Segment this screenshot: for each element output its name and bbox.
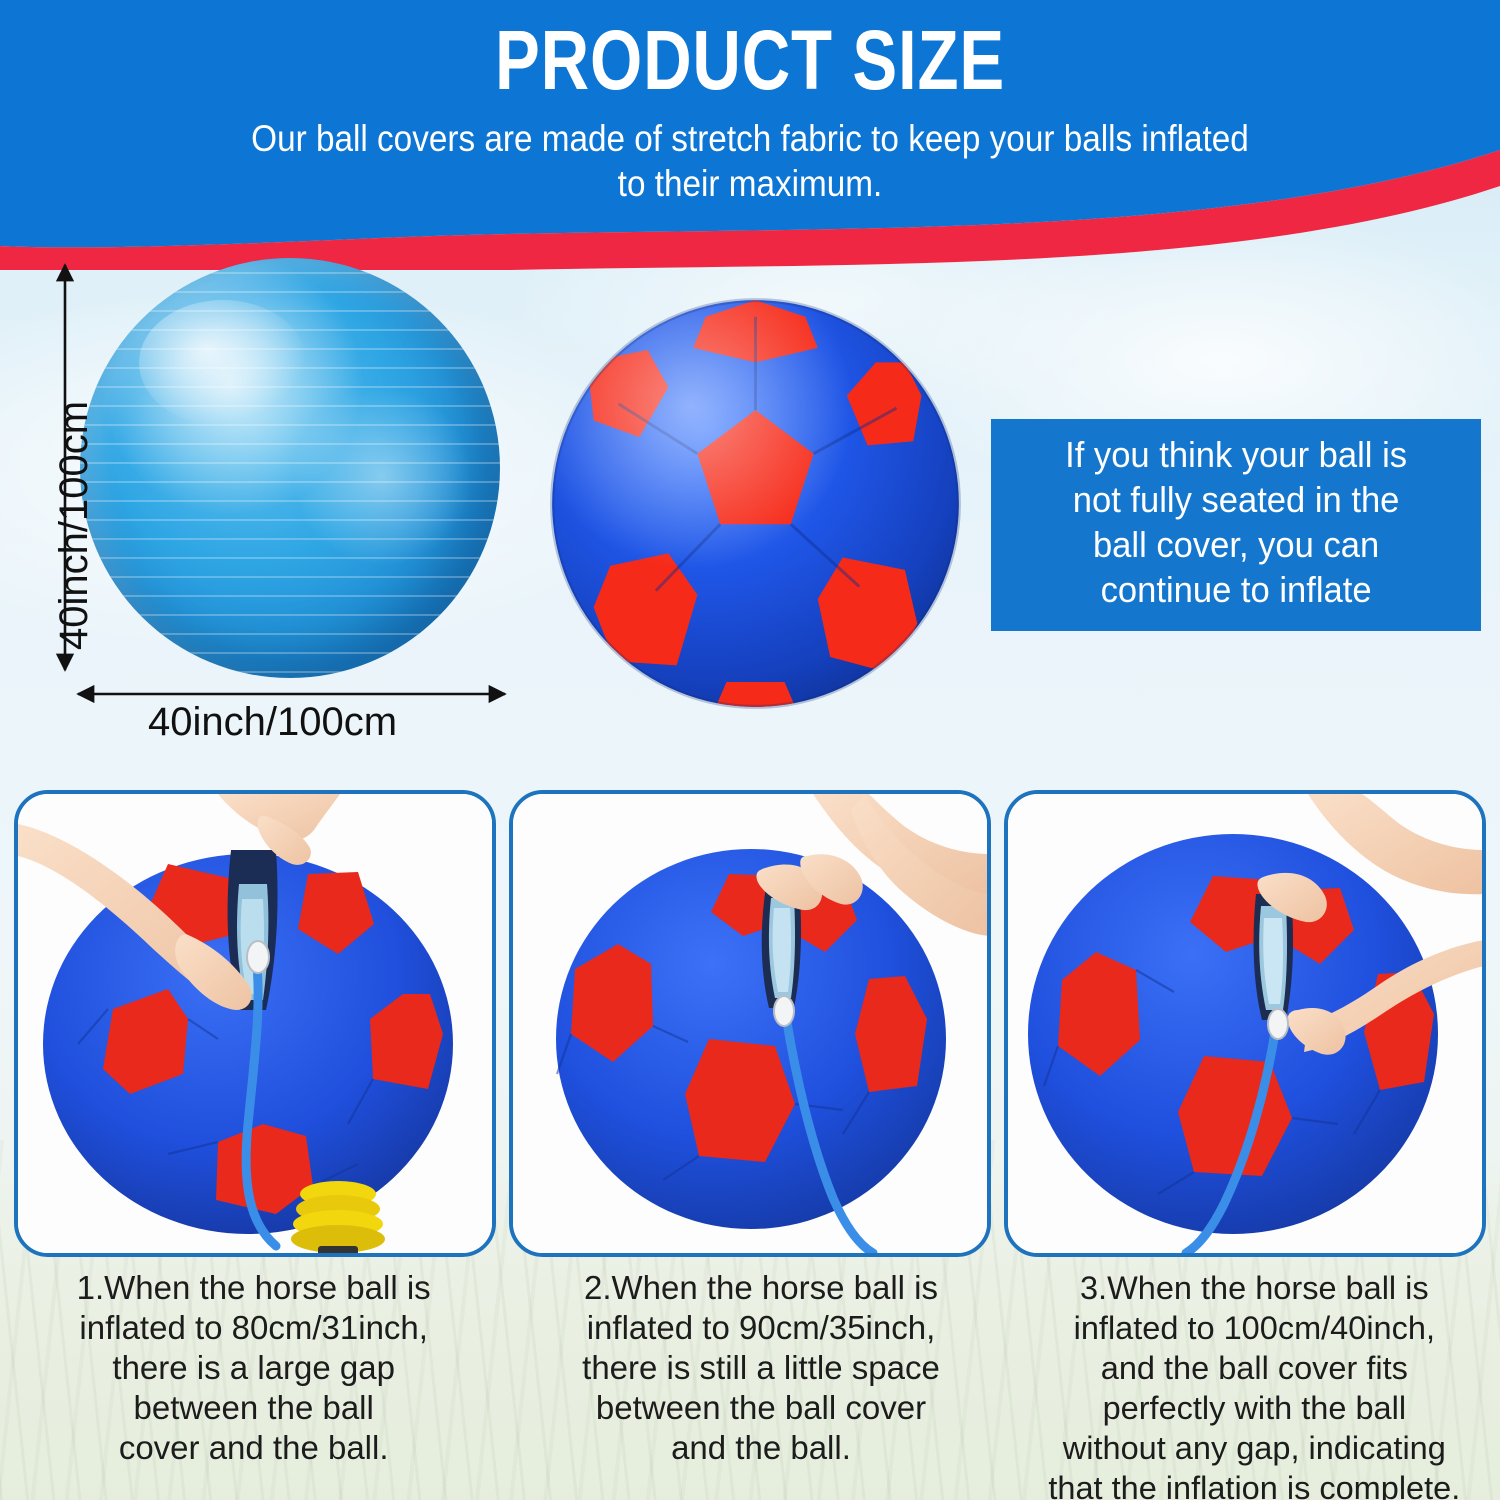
header-banner: PRODUCT SIZE Our ball covers are made of… — [0, 0, 1500, 260]
step-2-panel[interactable] — [509, 790, 991, 1257]
ball-highlight — [139, 300, 307, 426]
inflate-tip-text: If you think your ball is not fully seat… — [1065, 432, 1407, 612]
soccer-ball-cover-image — [548, 296, 963, 711]
step-1-caption: 1.When the horse ball is inflated to 80c… — [0, 1268, 511, 1500]
step-captions-row: 1.When the horse ball is inflated to 80c… — [0, 1268, 1500, 1500]
step-3-panel[interactable] — [1004, 790, 1486, 1257]
step-3-caption: 3.When the horse ball is inflated to 100… — [1011, 1268, 1500, 1500]
step-3-photo — [1008, 794, 1482, 1253]
exercise-ball-image — [80, 258, 500, 678]
inflate-tip-callout: If you think your ball is not fully seat… — [991, 419, 1481, 631]
steps-photo-row — [14, 790, 1486, 1257]
ball-ribs — [80, 258, 500, 678]
step-1-photo — [18, 794, 492, 1253]
width-dimension-label: 40inch/100cm — [148, 700, 397, 745]
product-size-infographic: PRODUCT SIZE Our ball covers are made of… — [0, 0, 1500, 1500]
step-1-panel[interactable] — [14, 790, 496, 1257]
height-dimension-label: 40inch/100cm — [52, 401, 97, 650]
step-2-caption: 2.When the horse ball is inflated to 90c… — [511, 1268, 1010, 1500]
header-wave-shape — [0, 0, 1500, 270]
step-2-photo — [513, 794, 987, 1253]
